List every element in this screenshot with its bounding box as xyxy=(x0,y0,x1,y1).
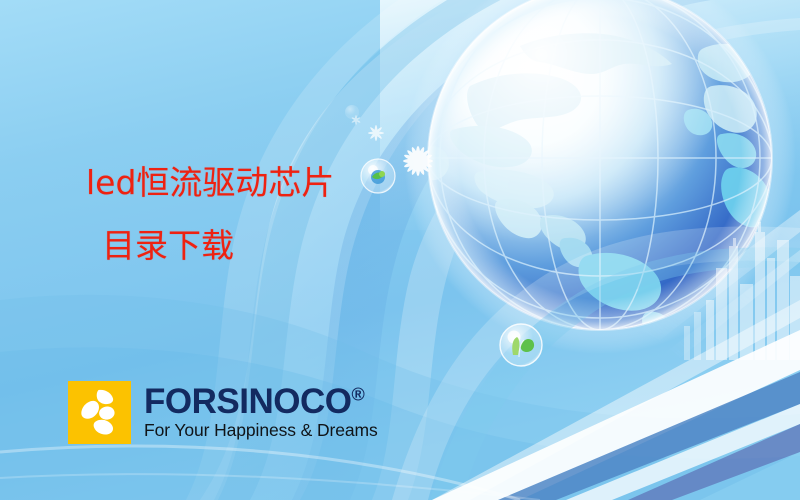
registered-trademark-icon: ® xyxy=(351,384,364,404)
promo-banner: led恒流驱动芯片 目录下载 FORSINOCO® For Your Happi… xyxy=(0,0,800,500)
bubble-leaf-icon xyxy=(500,324,542,366)
thin-curve xyxy=(0,446,520,500)
bubble-small-decor xyxy=(345,105,359,119)
logo-text-block: FORSINOCO® For Your Happiness & Dreams xyxy=(144,381,378,440)
forsinoco-pinwheel-mark xyxy=(68,381,131,444)
company-logo[interactable]: FORSINOCO® For Your Happiness & Dreams xyxy=(68,381,378,444)
city-skyline-silhouette xyxy=(706,222,800,360)
front-ribbon xyxy=(392,227,800,500)
light-rays xyxy=(640,210,800,358)
logo-wordmark: FORSINOCO® xyxy=(144,385,378,419)
sparkle-flower-small xyxy=(368,125,384,141)
headline-block: led恒流驱动芯片 目录下载 xyxy=(86,166,506,262)
headline-line-1: led恒流驱动芯片 xyxy=(86,166,506,199)
logo-tagline: For Your Happiness & Dreams xyxy=(144,420,378,440)
headline-line-2: 目录下载 xyxy=(102,229,506,262)
globe-grid xyxy=(428,0,772,330)
bottom-diagonal-bands xyxy=(432,300,800,500)
logo-wordmark-text: FORSINOCO xyxy=(144,382,351,421)
skyline-windows xyxy=(684,312,701,360)
sparkle-flower-tiny xyxy=(351,115,361,125)
